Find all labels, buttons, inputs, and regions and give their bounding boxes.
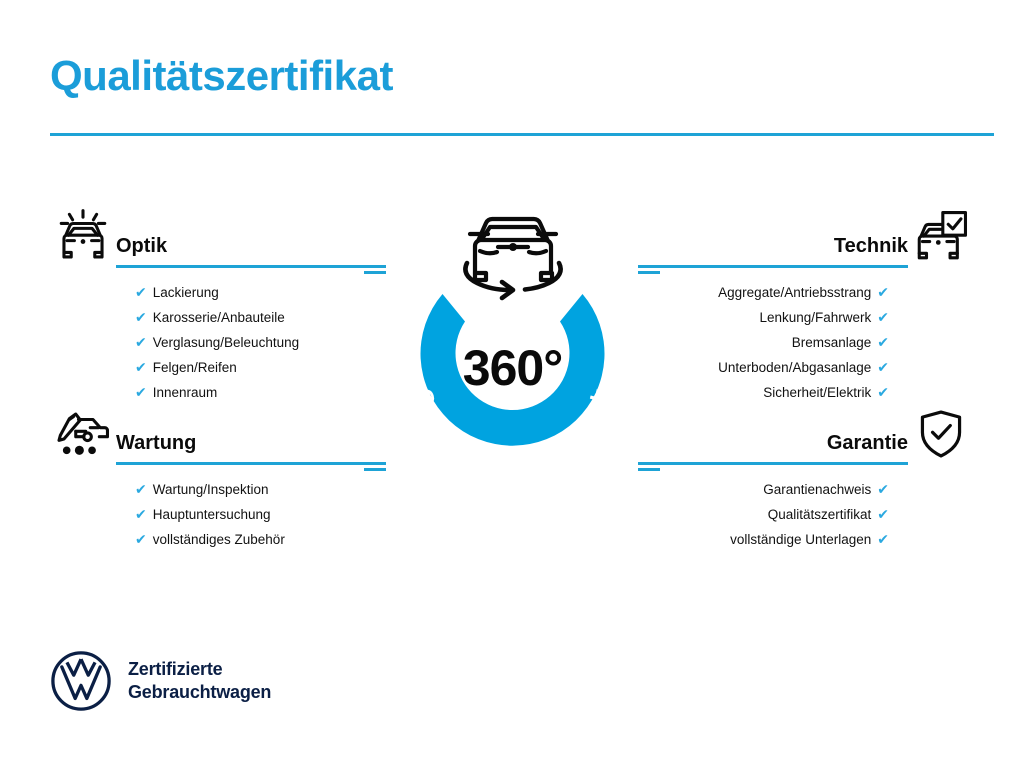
- section-title-garantie: Garantie: [638, 433, 908, 462]
- list-item-label: Innenraum: [153, 381, 218, 405]
- footer-line-2: Gebrauchtwagen: [128, 681, 271, 704]
- check-icon: ✔: [135, 502, 147, 526]
- footer-brand: Zertifizierte Gebrauchtwagen: [50, 650, 271, 712]
- checklist-optik: ✔ Lackierung ✔ Karosserie/Anbauteile ✔ V…: [50, 280, 386, 405]
- list-item-label: Aggregate/Antriebsstrang: [718, 281, 871, 305]
- section-optik: Optik ✔ Lackierung ✔ Karosserie/Anbautei…: [50, 206, 386, 405]
- section-underline-wartung: [116, 462, 386, 465]
- check-icon: ✔: [877, 280, 889, 304]
- list-item: ✔ Lenkung/Fahrwerk: [638, 305, 889, 330]
- check-icon: ✔: [135, 477, 147, 501]
- section-title-wartung: Wartung: [116, 433, 386, 462]
- list-item-label: Qualitätszertifikat: [768, 503, 872, 527]
- list-item-label: vollständiges Zubehör: [153, 528, 285, 552]
- list-item: ✔ Hauptuntersuchung: [135, 502, 386, 527]
- check-icon: ✔: [877, 305, 889, 329]
- check-icon: ✔: [135, 380, 147, 404]
- list-item: ✔ Wartung/Inspektion: [135, 477, 386, 502]
- list-item-label: Sicherheit/Elektrik: [763, 381, 871, 405]
- checklist-wartung: ✔ Wartung/Inspektion ✔ Hauptuntersuchung…: [50, 477, 386, 552]
- section-title-technik: Technik: [638, 236, 908, 265]
- divider-dash-left-bottom: [364, 468, 386, 471]
- checklist-technik: ✔ Aggregate/Antriebsstrang ✔ Lenkung/Fah…: [638, 280, 974, 405]
- list-item: ✔ Qualitätszertifikat: [638, 502, 889, 527]
- section-technik: Technik ✔ Aggregate/Antriebsstrang ✔ Len…: [638, 206, 974, 405]
- footer-text: Zertifizierte Gebrauchtwagen: [128, 658, 271, 704]
- section-underline-optik: [116, 265, 386, 268]
- divider-dash-right-bottom: [638, 468, 660, 471]
- list-item: ✔ Innenraum: [135, 380, 386, 405]
- list-item-label: Wartung/Inspektion: [153, 478, 269, 502]
- list-item-label: Lenkung/Fahrwerk: [759, 306, 871, 330]
- badge-center-value: 360°: [384, 343, 641, 393]
- list-item: ✔ Garantienachweis: [638, 477, 889, 502]
- check-icon: ✔: [135, 527, 147, 551]
- car-front-checkbox-icon: [908, 206, 974, 268]
- section-wartung: Wartung ✔ Wartung/Inspektion ✔ Hauptunte…: [50, 403, 386, 552]
- list-item-label: Hauptuntersuchung: [153, 503, 271, 527]
- badge-360-check: Gebrauchtwagen-Check 360°: [384, 247, 641, 504]
- list-item-label: Bremsanlage: [792, 331, 872, 355]
- check-icon: ✔: [877, 355, 889, 379]
- car-service-pencil-icon: [50, 403, 116, 465]
- list-item-label: Verglasung/Beleuchtung: [153, 331, 299, 355]
- check-icon: ✔: [135, 355, 147, 379]
- vw-logo-icon: [50, 650, 112, 712]
- check-icon: ✔: [877, 477, 889, 501]
- list-item: ✔ Unterboden/Abgasanlage: [638, 355, 889, 380]
- check-icon: ✔: [877, 527, 889, 551]
- shield-check-icon: [908, 403, 974, 465]
- check-icon: ✔: [877, 502, 889, 526]
- check-icon: ✔: [135, 305, 147, 329]
- list-item: ✔ vollständiges Zubehör: [135, 527, 386, 552]
- list-item: ✔ Karosserie/Anbauteile: [135, 305, 386, 330]
- car-front-shine-icon: [50, 206, 116, 268]
- title-divider: [50, 133, 994, 136]
- divider-dash-right-top: [638, 271, 660, 274]
- check-icon: ✔: [135, 330, 147, 354]
- list-item-label: Unterboden/Abgasanlage: [718, 356, 871, 380]
- list-item: ✔ Sicherheit/Elektrik: [638, 380, 889, 405]
- section-underline-garantie: [638, 462, 908, 465]
- list-item-label: Felgen/Reifen: [153, 356, 237, 380]
- car-rotation-icon: [454, 203, 572, 301]
- list-item: ✔ Verglasung/Beleuchtung: [135, 330, 386, 355]
- list-item-label: Garantienachweis: [763, 478, 871, 502]
- check-icon: ✔: [877, 380, 889, 404]
- check-icon: ✔: [135, 280, 147, 304]
- divider-dash-left-top: [364, 271, 386, 274]
- list-item: ✔ Felgen/Reifen: [135, 355, 386, 380]
- list-item-label: Lackierung: [153, 281, 219, 305]
- list-item: ✔ Bremsanlage: [638, 330, 889, 355]
- list-item-label: Karosserie/Anbauteile: [153, 306, 285, 330]
- list-item-label: vollständige Unterlagen: [730, 528, 871, 552]
- list-item: ✔ Aggregate/Antriebsstrang: [638, 280, 889, 305]
- check-icon: ✔: [877, 330, 889, 354]
- list-item: ✔ vollständige Unterlagen: [638, 527, 889, 552]
- list-item: ✔ Lackierung: [135, 280, 386, 305]
- section-title-optik: Optik: [116, 236, 386, 265]
- section-underline-technik: [638, 265, 908, 268]
- page-title: Qualitätszertifikat: [50, 52, 393, 100]
- section-garantie: Garantie ✔ Garantienachweis ✔ Qualitätsz…: [638, 403, 974, 552]
- footer-line-1: Zertifizierte: [128, 658, 271, 681]
- checklist-garantie: ✔ Garantienachweis ✔ Qualitätszertifikat…: [638, 477, 974, 552]
